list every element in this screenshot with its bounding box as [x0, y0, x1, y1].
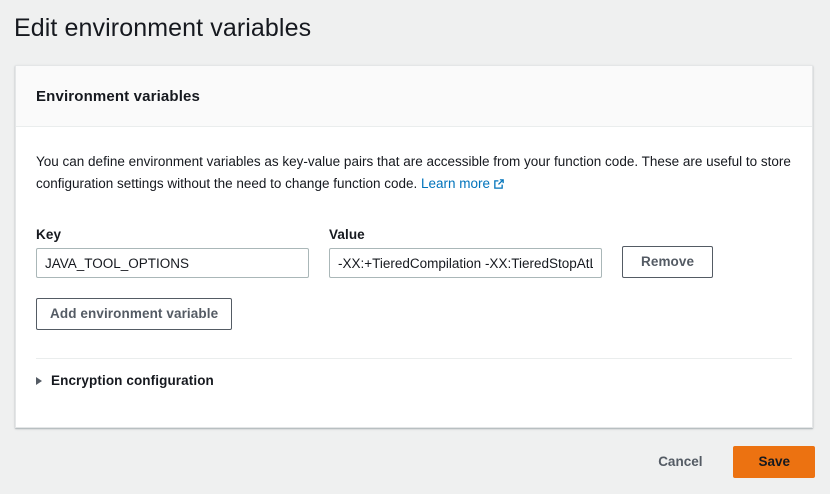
remove-button[interactable]: Remove: [622, 246, 713, 278]
encryption-configuration-expandable[interactable]: Encryption configuration: [36, 359, 214, 388]
learn-more-link[interactable]: Learn more: [421, 176, 505, 191]
description-text: You can define environment variables as …: [36, 151, 806, 197]
learn-more-label: Learn more: [421, 176, 490, 191]
key-label: Key: [36, 227, 309, 242]
value-label: Value: [329, 227, 602, 242]
cancel-button[interactable]: Cancel: [643, 446, 717, 478]
page-title: Edit environment variables: [14, 12, 311, 44]
edit-environment-variables-page: Edit environment variables Environment v…: [0, 0, 830, 494]
card-header-title: Environment variables: [36, 88, 200, 105]
key-field-group: Key: [36, 227, 309, 278]
card-header: Environment variables: [16, 66, 812, 127]
encryption-configuration-label: Encryption configuration: [51, 373, 214, 388]
external-link-icon: [493, 175, 505, 197]
description-sentence: You can define environment variables as …: [36, 154, 791, 191]
variable-row: Key Value Remove: [36, 227, 792, 278]
key-input[interactable]: [36, 248, 309, 278]
form-actions: Cancel Save: [643, 446, 815, 478]
value-input[interactable]: [329, 248, 602, 278]
card-body: You can define environment variables as …: [16, 127, 812, 388]
add-environment-variable-button[interactable]: Add environment variable: [36, 298, 232, 330]
environment-variables-card: Environment variables You can define env…: [15, 65, 813, 428]
value-field-group: Value: [329, 227, 602, 278]
caret-right-icon: [36, 377, 42, 385]
save-button[interactable]: Save: [733, 446, 815, 478]
